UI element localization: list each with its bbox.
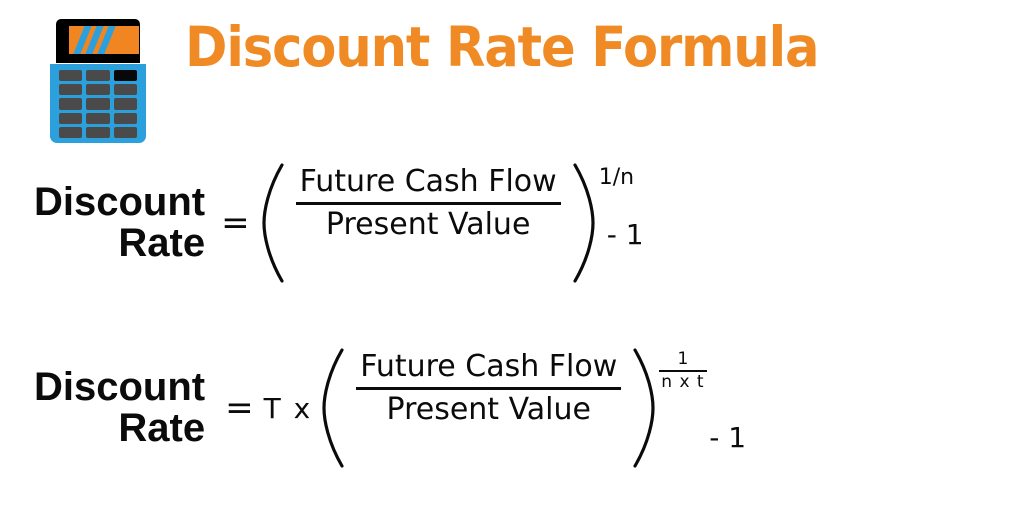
formula-2-multiplier: T x	[264, 392, 313, 425]
calculator-key	[114, 127, 137, 138]
formula-2-left-side: Discount Rate	[34, 367, 205, 449]
formula-1-lhs-line2: Rate	[34, 223, 205, 264]
left-parenthesis-icon	[260, 163, 286, 283]
calculator-key	[86, 127, 109, 138]
formula-2-parenthesised-fraction: Future Cash Flow Present Value	[320, 348, 657, 468]
calculator-key	[114, 113, 137, 124]
calculator-key	[86, 113, 109, 124]
formula-1-parenthesised-fraction: Future Cash Flow Present Value	[260, 163, 597, 283]
calculator-keypad	[59, 70, 137, 138]
calculator-icon	[50, 19, 146, 143]
calculator-key	[86, 70, 109, 81]
calculator-key	[59, 127, 82, 138]
formula-2-suffix: - 1	[709, 424, 746, 452]
calculator-key	[114, 84, 137, 95]
formula-2-exponent-denominator: n x t	[659, 372, 706, 392]
formula-row-2: Discount Rate = T x Future Cash Flow Pre…	[34, 348, 717, 468]
calculator-body	[50, 64, 146, 143]
calculator-key	[114, 98, 137, 109]
left-parenthesis-icon	[320, 348, 346, 468]
calculator-key	[59, 84, 82, 95]
calculator-key	[86, 84, 109, 95]
formula-1-lhs-line1: Discount	[34, 180, 205, 224]
formula-1-fraction: Future Cash Flow Present Value	[286, 163, 571, 283]
page-title: Discount Rate Formula	[185, 20, 818, 75]
formula-1-equals-sign: =	[221, 206, 250, 240]
discount-rate-formula-infographic: Discount Rate Formula Discount Rate = Fu…	[0, 0, 1024, 526]
formula-1-exponent-area: 1/n - 1	[597, 163, 657, 283]
calculator-key	[59, 113, 82, 124]
formula-1-numerator: Future Cash Flow	[296, 165, 561, 202]
calculator-bezel	[56, 19, 140, 63]
right-parenthesis-icon	[571, 163, 597, 283]
formula-2-lhs-line2: Rate	[34, 408, 205, 449]
formula-2-lhs-line1: Discount	[34, 365, 205, 409]
header: Discount Rate Formula	[0, 0, 1024, 150]
calculator-key	[86, 98, 109, 109]
formula-2-numerator: Future Cash Flow	[356, 350, 621, 387]
formula-1-denominator: Present Value	[322, 205, 534, 242]
calculator-screen	[69, 26, 139, 54]
formula-2-exponent-fraction: 1 n x t	[659, 350, 706, 391]
formula-2-equals-sign: =	[225, 391, 254, 425]
formula-1-suffix: - 1	[607, 221, 644, 249]
formula-row-1: Discount Rate = Future Cash Flow Present…	[34, 163, 657, 283]
formula-2-exponent-area: 1 n x t - 1	[657, 348, 717, 468]
right-parenthesis-icon	[631, 348, 657, 468]
formula-1-exponent: 1/n	[599, 167, 634, 189]
calculator-key	[59, 70, 82, 81]
formula-2-fraction: Future Cash Flow Present Value	[346, 348, 631, 468]
formula-1-left-side: Discount Rate	[34, 182, 205, 264]
formula-2-exponent-numerator: 1	[675, 350, 692, 370]
calculator-key	[59, 98, 82, 109]
formula-2-denominator: Present Value	[383, 390, 595, 427]
calculator-key-accent	[114, 70, 137, 81]
